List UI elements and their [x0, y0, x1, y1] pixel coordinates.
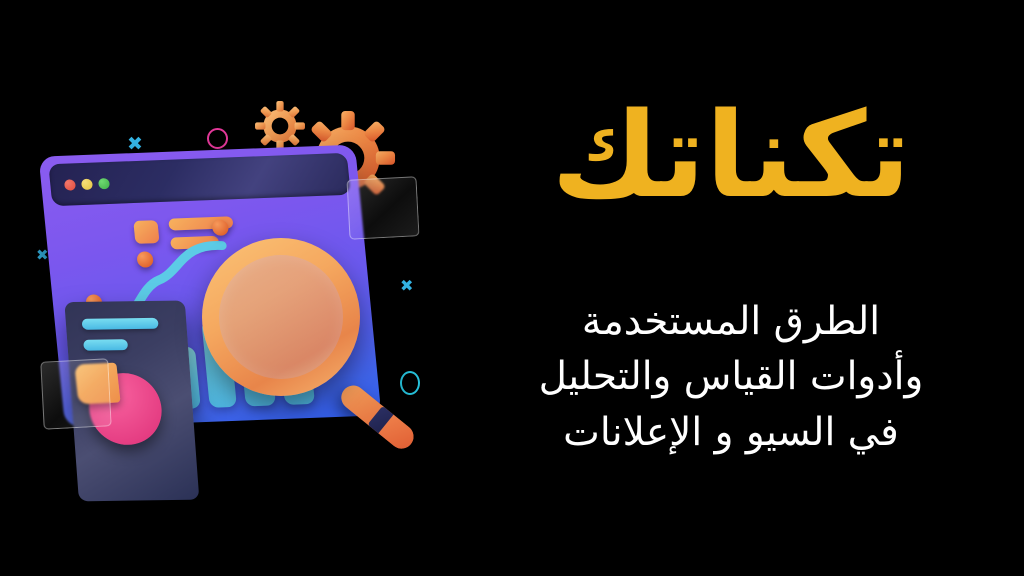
brand-title: تكناتك: [476, 92, 986, 219]
card-text-bar: [82, 318, 159, 330]
ring-cyan-right-icon: [400, 371, 420, 395]
card-text-bar: [83, 339, 128, 351]
sparkle-right-icon: ✖: [400, 278, 413, 294]
subtitle-block: الطرق المستخدمة وأدوات القياس والتحليل ف…: [476, 294, 986, 460]
text-panel: تكناتك الطرق المستخدمة وأدوات القياس وال…: [444, 0, 1024, 576]
magnifier-lens: [202, 238, 360, 396]
poster-canvas: ✖ ✖ ✖: [0, 0, 1024, 576]
gear-small-icon: [254, 100, 306, 152]
browser-titlebar: [48, 153, 350, 206]
glass-panel-bottom: [40, 358, 111, 429]
close-dot-icon[interactable]: [64, 179, 76, 190]
subtitle-line-3: في السيو و الإعلانات: [476, 405, 986, 460]
ring-pink-upper-icon: [207, 128, 228, 149]
subtitle-line-2: وأدوات القياس والتحليل: [476, 349, 986, 404]
sparkle-left-icon: ✖: [36, 248, 49, 263]
minimize-dot-icon[interactable]: [81, 179, 93, 190]
sparkle-top-icon: ✖: [127, 135, 143, 154]
subtitle-line-1: الطرق المستخدمة: [476, 294, 986, 349]
maximize-dot-icon[interactable]: [98, 178, 110, 189]
gear-small-svg: [254, 100, 306, 152]
analytics-illustration: ✖ ✖ ✖: [0, 0, 470, 576]
glass-panel-top: [346, 176, 419, 240]
